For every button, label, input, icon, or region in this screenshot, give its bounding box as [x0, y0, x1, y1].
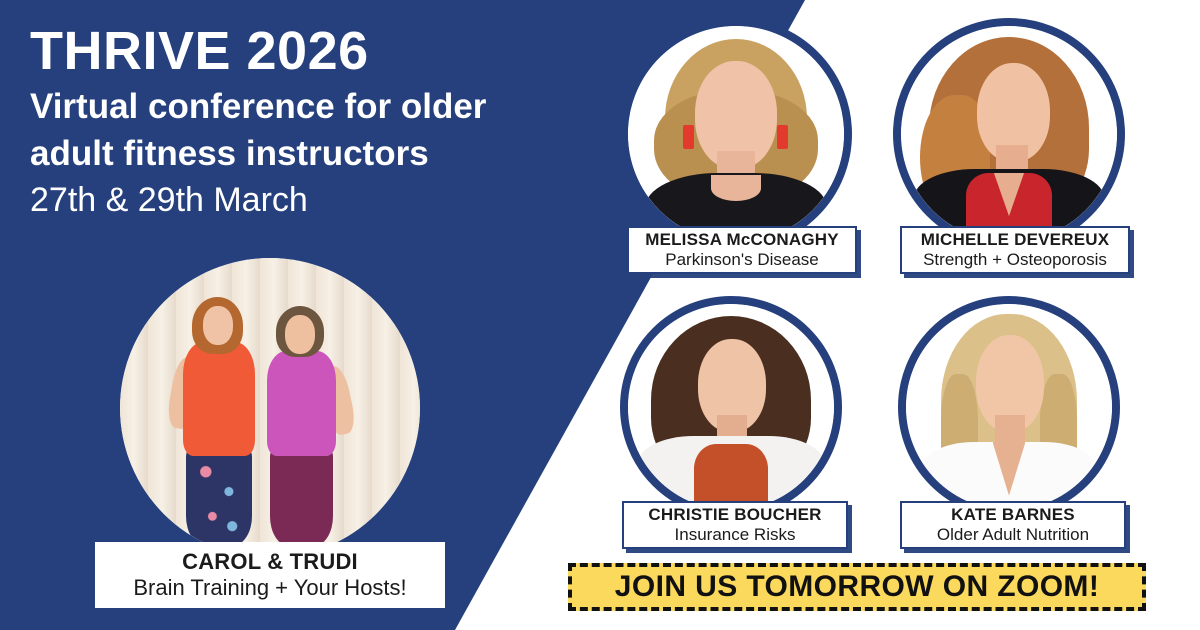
host1-face: [203, 306, 233, 345]
host1-leggings: [186, 447, 252, 546]
page-title: THRIVE 2026: [30, 24, 610, 79]
headline-block: THRIVE 2026 Virtual conference for older…: [30, 24, 610, 221]
speaker-name: MICHELLE DEVEREUX: [921, 230, 1110, 250]
speaker-name: MELISSA McCONAGHY: [645, 230, 839, 250]
name-plate-melissa: MELISSA McCONAGHY Parkinson's Disease: [627, 226, 857, 274]
cta-label: JOIN US TOMORROW ON ZOOM!: [615, 570, 1099, 604]
speaker-role: Parkinson's Disease: [665, 250, 818, 270]
host2-leggings: [270, 447, 333, 546]
hosts-role: Brain Training + Your Hosts!: [133, 575, 406, 601]
hosts-portrait: [120, 258, 420, 558]
speaker-portrait-michelle: [893, 18, 1125, 250]
speaker-portrait-christie: [620, 296, 842, 518]
speaker-portrait-kate: [898, 296, 1120, 518]
name-plate-christie: CHRISTIE BOUCHER Insurance Risks: [622, 501, 848, 549]
melissa-earring-right: [777, 125, 788, 149]
name-plate-michelle: MICHELLE DEVEREUX Strength + Osteoporosi…: [900, 226, 1130, 274]
promo-banner: THRIVE 2026 Virtual conference for older…: [0, 0, 1200, 630]
speaker-name: KATE BARNES: [951, 505, 1075, 525]
host1-tank-top: [183, 342, 255, 456]
speaker-name: CHRISTIE BOUCHER: [648, 505, 821, 525]
kate-photo: [906, 304, 1112, 510]
hosts-name: CAROL & TRUDI: [182, 549, 358, 574]
subtitle-line-1: Virtual conference for older: [30, 87, 610, 128]
speaker-role: Insurance Risks: [675, 525, 796, 545]
event-dates: 27th & 29th March: [30, 180, 610, 221]
host2-face: [285, 315, 315, 354]
speaker-role: Strength + Osteoporosis: [923, 250, 1107, 270]
speaker-role: Older Adult Nutrition: [937, 525, 1089, 545]
name-plate-kate: KATE BARNES Older Adult Nutrition: [900, 501, 1126, 549]
hosts-photo: [120, 258, 420, 558]
join-zoom-cta-banner[interactable]: JOIN US TOMORROW ON ZOOM!: [568, 563, 1146, 611]
hosts-name-plate: CAROL & TRUDI Brain Training + Your Host…: [95, 542, 445, 608]
host2-tank-top: [267, 351, 336, 456]
subtitle-line-2: adult fitness instructors: [30, 134, 610, 175]
melissa-photo: [628, 26, 844, 242]
speaker-portrait-melissa: [620, 18, 852, 250]
christie-photo: [628, 304, 834, 510]
melissa-earring-left: [683, 125, 694, 149]
michelle-photo: [901, 26, 1117, 242]
